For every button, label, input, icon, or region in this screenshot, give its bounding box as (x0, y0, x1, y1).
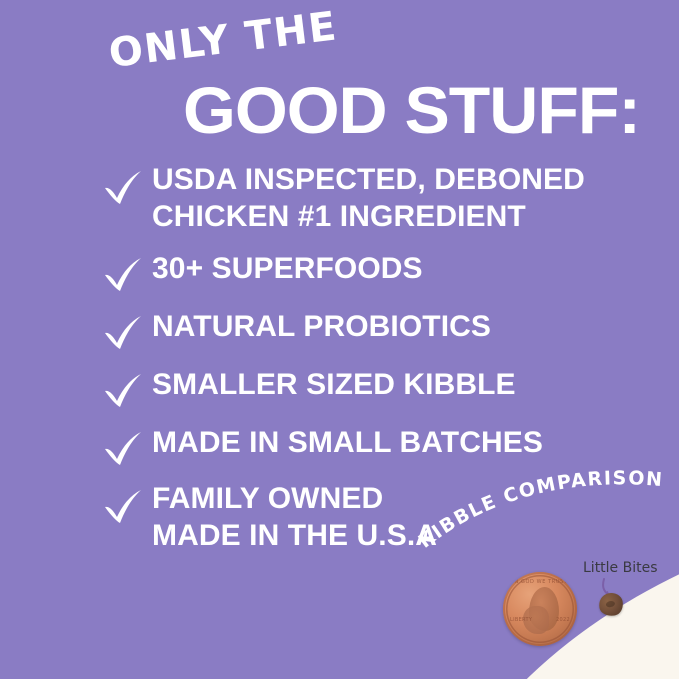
list-item-label: SMALLER SIZED KIBBLE (152, 365, 516, 404)
headline-block: ONLY THE GOOD STUFF: (0, 0, 679, 150)
check-icon (100, 251, 146, 297)
list-item-label: FAMILY OWNED MADE IN THE U.S.A (152, 481, 437, 554)
list-item: USDA INSPECTED, DEBONED CHICKEN #1 INGRE… (100, 162, 620, 235)
benefits-list: USDA INSPECTED, DEBONED CHICKEN #1 INGRE… (100, 162, 620, 568)
penny-legend-year: 2022 (556, 617, 570, 623)
penny-coin: IN GOD WE TRUST LIBERTY 2022 (503, 572, 577, 646)
check-icon (100, 309, 146, 355)
penny-legend-left: LIBERTY (510, 617, 532, 623)
check-icon (100, 164, 146, 210)
list-item-label: MADE IN SMALL BATCHES (152, 423, 543, 462)
headline-line-1: ONLY THE (106, 3, 340, 77)
headline-line-2: GOOD STUFF: (183, 72, 640, 148)
check-icon (100, 367, 146, 413)
check-icon (100, 425, 146, 471)
list-item-label: 30+ SUPERFOODS (152, 249, 423, 288)
promo-graphic: ONLY THE GOOD STUFF: USDA INSPECTED, DEB… (0, 0, 679, 679)
list-item-label: USDA INSPECTED, DEBONED CHICKEN #1 INGRE… (152, 162, 585, 235)
penny-legend-top: IN GOD WE TRUST (503, 579, 577, 585)
list-item: MADE IN SMALL BATCHES (100, 423, 620, 471)
list-item-label: NATURAL PROBIOTICS (152, 307, 491, 346)
little-bites-label: Little Bites (583, 560, 658, 576)
kibble-texture (605, 600, 615, 608)
check-icon (100, 483, 146, 529)
list-item: SMALLER SIZED KIBBLE (100, 365, 620, 413)
list-item: NATURAL PROBIOTICS (100, 307, 620, 355)
list-item: FAMILY OWNED MADE IN THE U.S.A (100, 481, 620, 554)
list-item: 30+ SUPERFOODS (100, 249, 620, 297)
